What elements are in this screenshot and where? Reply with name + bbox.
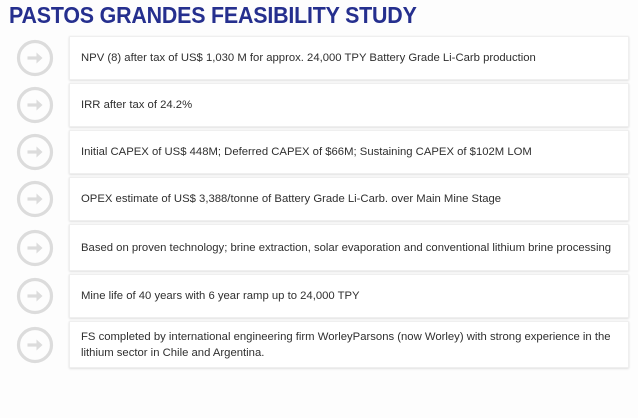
- bullet-list: NPV (8) after tax of US$ 1,030 M for app…: [0, 36, 638, 371]
- bullet-card: Mine life of 40 years with 6 year ramp u…: [69, 274, 629, 318]
- list-item: Mine life of 40 years with 6 year ramp u…: [0, 274, 638, 318]
- bullet-text: Initial CAPEX of US$ 448M; Deferred CAPE…: [81, 144, 532, 160]
- list-item: OPEX estimate of US$ 3,388/tonne of Batt…: [0, 177, 638, 221]
- bullet-text: Based on proven technology; brine extrac…: [81, 240, 611, 256]
- bullet-text: Mine life of 40 years with 6 year ramp u…: [81, 288, 360, 304]
- bullet-card: Initial CAPEX of US$ 448M; Deferred CAPE…: [69, 130, 629, 174]
- circle-arrow-right-icon: [0, 229, 69, 267]
- bullet-card: FS completed by international engineerin…: [69, 321, 629, 368]
- circle-arrow-right-icon: [0, 133, 69, 171]
- bullet-text: FS completed by international engineerin…: [81, 329, 618, 361]
- circle-arrow-right-icon: [0, 277, 69, 315]
- list-item: FS completed by international engineerin…: [0, 321, 638, 368]
- circle-arrow-right-icon: [0, 180, 69, 218]
- bullet-text: IRR after tax of 24.2%: [81, 97, 192, 113]
- page-title: PASTOS GRANDES FEASIBILITY STUDY: [9, 1, 417, 30]
- list-item: Based on proven technology; brine extrac…: [0, 224, 638, 271]
- bullet-card: OPEX estimate of US$ 3,388/tonne of Batt…: [69, 177, 629, 221]
- circle-arrow-right-icon: [0, 326, 69, 364]
- circle-arrow-right-icon: [0, 39, 69, 77]
- bullet-card: IRR after tax of 24.2%: [69, 83, 629, 127]
- list-item: Initial CAPEX of US$ 448M; Deferred CAPE…: [0, 130, 638, 174]
- slide-root: PASTOS GRANDES FEASIBILITY STUDY NPV (8)…: [0, 0, 638, 418]
- list-item: NPV (8) after tax of US$ 1,030 M for app…: [0, 36, 638, 80]
- bullet-card: Based on proven technology; brine extrac…: [69, 224, 629, 271]
- list-item: IRR after tax of 24.2%: [0, 83, 638, 127]
- bullet-text: OPEX estimate of US$ 3,388/tonne of Batt…: [81, 191, 501, 207]
- bullet-text: NPV (8) after tax of US$ 1,030 M for app…: [81, 50, 536, 66]
- bullet-card: NPV (8) after tax of US$ 1,030 M for app…: [69, 36, 629, 80]
- circle-arrow-right-icon: [0, 86, 69, 124]
